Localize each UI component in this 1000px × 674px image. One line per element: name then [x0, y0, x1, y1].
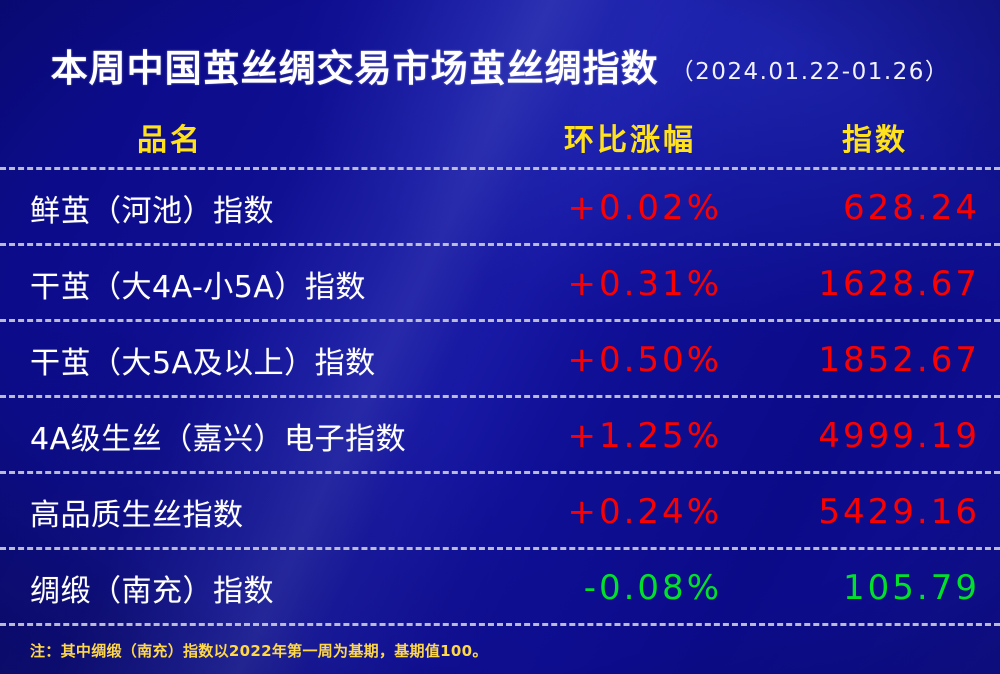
- cell-product-name: 干茧（大4A-小5A）指数: [0, 262, 540, 306]
- footnote-text: 注：其中绸缎（南充）指数以2022年第一周为基期，基期值100。: [30, 640, 488, 661]
- index-value: 5429.16: [818, 492, 980, 532]
- index-value: 4999.19: [818, 416, 980, 456]
- table-row: 鲜茧（河池）指数 +0.02% 628.24: [0, 170, 1000, 246]
- change-value: +0.24%: [568, 492, 723, 532]
- column-header-index: 指数: [740, 115, 1000, 159]
- cell-index: 628.24: [740, 188, 1000, 228]
- column-header-name-label: 品名: [137, 123, 203, 158]
- cell-product-name: 干茧（大5A及以上）指数: [0, 338, 540, 382]
- product-name-text: 干茧（大4A-小5A）指数: [30, 270, 366, 305]
- table-header-row: 品名 环比涨幅 指数: [0, 104, 1000, 170]
- table-row: 高品质生丝指数 +0.24% 5429.16: [0, 474, 1000, 550]
- product-name-text: 绸缎（南充）指数: [30, 574, 274, 609]
- table-row: 4A级生丝（嘉兴）电子指数 +1.25% 4999.19: [0, 398, 1000, 474]
- cell-index: 1628.67: [740, 264, 1000, 304]
- table-row: 干茧（大4A-小5A）指数 +0.31% 1628.67: [0, 246, 1000, 322]
- table-row: 绸缎（南充）指数 -0.08% 105.79: [0, 550, 1000, 626]
- change-value: +1.25%: [568, 416, 723, 456]
- cell-change: +0.24%: [540, 492, 740, 532]
- cell-index: 105.79: [740, 568, 1000, 608]
- product-name-text: 鲜茧（河池）指数: [30, 194, 274, 229]
- column-header-change-label: 环比涨幅: [564, 123, 696, 158]
- column-header-index-label: 指数: [842, 123, 908, 158]
- change-value: -0.08%: [584, 568, 722, 608]
- table-row: 干茧（大5A及以上）指数 +0.50% 1852.67: [0, 322, 1000, 398]
- index-value: 628.24: [843, 188, 980, 228]
- product-name-text: 高品质生丝指数: [30, 498, 244, 533]
- cell-product-name: 鲜茧（河池）指数: [0, 186, 540, 230]
- title-main-text: 本周中国茧丝绸交易市场茧丝绸指数: [51, 38, 659, 92]
- page-title: 本周中国茧丝绸交易市场茧丝绸指数 （2024.01.22-01.26）: [0, 38, 1000, 90]
- index-value: 1852.67: [818, 340, 980, 380]
- cell-change: +0.50%: [540, 340, 740, 380]
- change-value: +0.02%: [568, 188, 723, 228]
- title-date-range: （2024.01.22-01.26）: [671, 52, 950, 86]
- column-header-change: 环比涨幅: [540, 115, 740, 159]
- cell-index: 1852.67: [740, 340, 1000, 380]
- cell-change: +1.25%: [540, 416, 740, 456]
- product-name-text: 4A级生丝（嘉兴）电子指数: [30, 422, 406, 457]
- cell-product-name: 绸缎（南充）指数: [0, 566, 540, 610]
- index-value: 105.79: [843, 568, 980, 608]
- index-board: 本周中国茧丝绸交易市场茧丝绸指数 （2024.01.22-01.26） 品名 环…: [0, 0, 1000, 674]
- cell-change: +0.31%: [540, 264, 740, 304]
- cell-index: 4999.19: [740, 416, 1000, 456]
- column-header-name: 品名: [0, 115, 540, 159]
- index-value: 1628.67: [818, 264, 980, 304]
- change-value: +0.31%: [568, 264, 723, 304]
- change-value: +0.50%: [568, 340, 723, 380]
- cell-product-name: 高品质生丝指数: [0, 490, 540, 534]
- cell-index: 5429.16: [740, 492, 1000, 532]
- cell-change: -0.08%: [540, 568, 740, 608]
- cell-product-name: 4A级生丝（嘉兴）电子指数: [0, 414, 540, 458]
- product-name-text: 干茧（大5A及以上）指数: [30, 346, 376, 381]
- cell-change: +0.02%: [540, 188, 740, 228]
- index-table: 品名 环比涨幅 指数 鲜茧（河池）指数 +0.02% 628.24: [0, 104, 1000, 626]
- separator-line: [0, 623, 1000, 626]
